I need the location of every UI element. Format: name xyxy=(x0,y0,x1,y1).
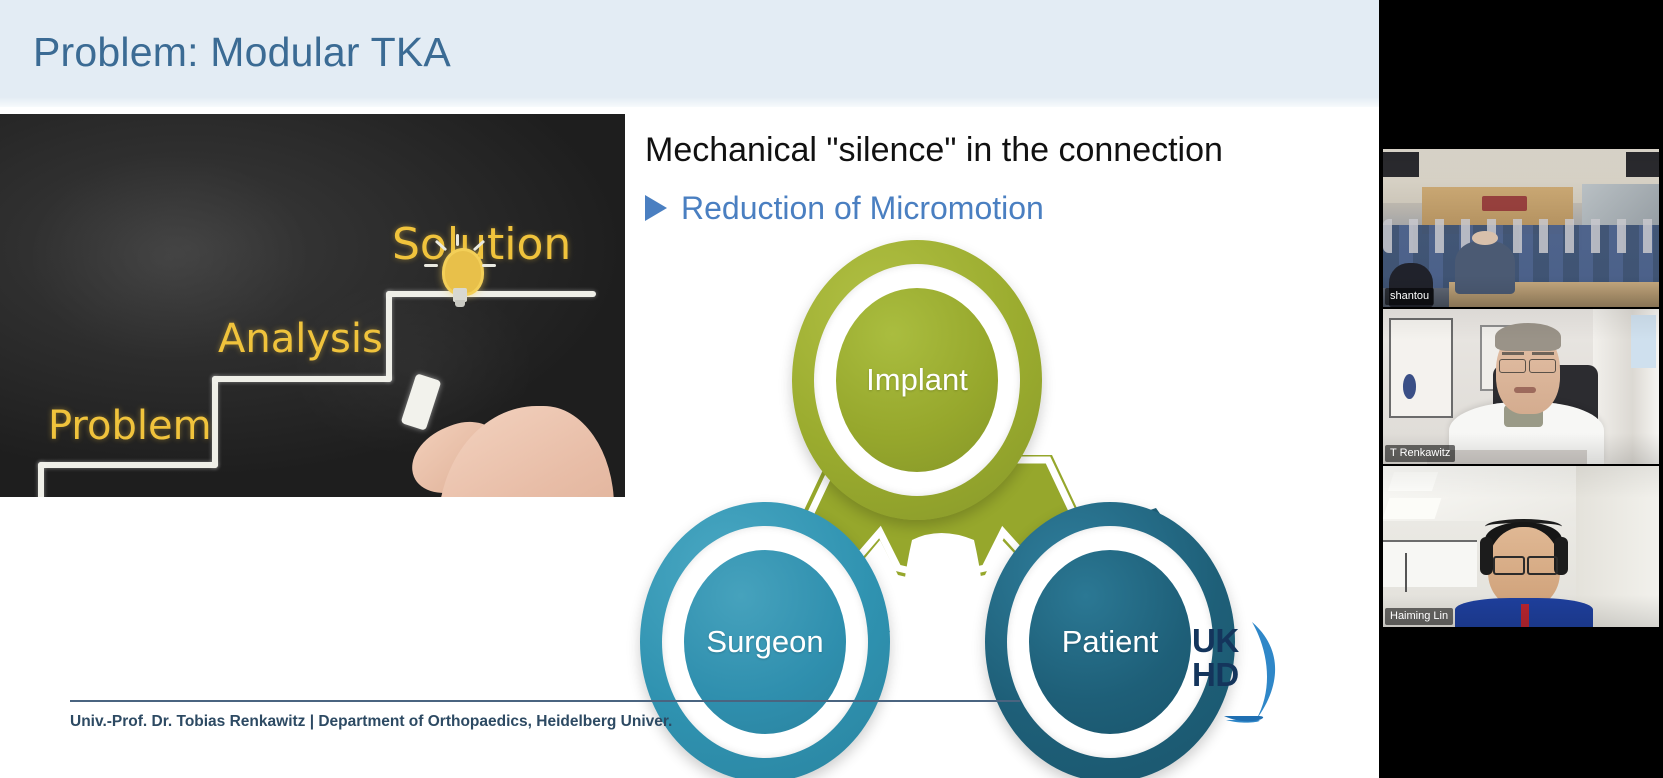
bulb-ray xyxy=(473,240,485,252)
bulb-ray xyxy=(482,264,496,267)
window-light xyxy=(1631,315,1656,368)
video-feed xyxy=(1383,309,1659,464)
headphone-earcup xyxy=(1480,537,1494,576)
chalk-step-line xyxy=(386,291,392,382)
diagram-node-implant[interactable]: Implant xyxy=(792,240,1042,520)
bulb-ray xyxy=(435,240,447,252)
ukhd-logo: UK HD xyxy=(1192,612,1282,730)
footer-text: Univ.-Prof. Dr. Tobias Renkawitz | Depar… xyxy=(70,710,672,734)
eyeglasses-lens xyxy=(1499,359,1526,373)
chalk-stick xyxy=(401,373,442,430)
room-wall xyxy=(1576,466,1659,627)
slide-title: Problem: Modular TKA xyxy=(33,26,451,78)
ceiling-light xyxy=(1388,472,1438,491)
participant-name-renkawitz: T Renkawitz xyxy=(1385,445,1455,462)
chalk-step-line xyxy=(38,462,218,468)
ukhd-logo-line2: HD xyxy=(1192,658,1239,691)
audience-heads xyxy=(1383,219,1659,254)
participant-name-haiming-lin: Haiming Lin xyxy=(1385,608,1453,625)
title-bar-sheen xyxy=(0,97,1379,107)
ukhd-logo-line1: UK xyxy=(1192,624,1239,657)
chalk-step-line xyxy=(212,376,218,468)
video-feed xyxy=(1383,466,1659,627)
wall-monitor xyxy=(1383,152,1419,177)
eyebrow xyxy=(1502,352,1524,355)
lanyard xyxy=(1521,604,1529,627)
eyeglasses-lens xyxy=(1493,556,1525,574)
diagram-node-label: Patient xyxy=(1062,624,1159,660)
chalk-word-analysis: Analysis xyxy=(218,316,383,362)
chalk-word-problem: Problem xyxy=(48,403,212,449)
seated-person xyxy=(1455,241,1516,295)
slide-headline: Mechanical "silence" in the connection xyxy=(645,128,1223,172)
node-inner-disc: Implant xyxy=(836,288,998,472)
presentation-slide[interactable]: Problem: Modular TKA Problem Analysis So… xyxy=(0,0,1379,778)
person-mouth xyxy=(1514,387,1536,393)
person-hair xyxy=(1495,323,1561,351)
chalk-step-line xyxy=(38,462,44,497)
projection-screen xyxy=(1383,540,1477,587)
node-inner-disc: Patient xyxy=(1029,550,1191,734)
person-head xyxy=(1472,231,1499,245)
eyeglasses-lens xyxy=(1527,556,1559,574)
video-tile-renkawitz[interactable]: T Renkawitz xyxy=(1383,309,1659,464)
wall-monitor xyxy=(1626,152,1659,177)
chalkboard-steps-photo: Problem Analysis Solution xyxy=(0,114,625,497)
hand-with-chalk xyxy=(400,364,625,497)
slide-bullet-text: Reduction of Micromotion xyxy=(681,187,1044,229)
bulb-base xyxy=(455,300,465,307)
diagram-node-surgeon[interactable]: Surgeon xyxy=(640,502,890,778)
footer-divider xyxy=(70,700,1020,702)
eyebrow xyxy=(1532,352,1554,355)
wall-picture-frame xyxy=(1389,318,1454,418)
video-tile-shantou[interactable]: shantou xyxy=(1383,149,1659,307)
ceiling-light xyxy=(1383,498,1442,519)
slide-bullet-row: Reduction of Micromotion xyxy=(645,187,1044,229)
three-circle-diagram: Implant Surgeon Patient xyxy=(640,240,1260,778)
chalk-step-line xyxy=(212,376,392,382)
lightbulb-icon xyxy=(432,242,488,314)
video-feed xyxy=(1383,149,1659,307)
hanging-cord xyxy=(1405,553,1407,592)
diagram-node-label: Implant xyxy=(866,362,968,398)
node-inner-disc: Surgeon xyxy=(684,550,846,734)
eyeglasses-lens xyxy=(1529,359,1556,373)
wall-emblem xyxy=(1482,196,1526,210)
bulb-ray xyxy=(424,264,438,267)
hand-palm xyxy=(438,406,614,497)
participant-name-shantou: shantou xyxy=(1385,288,1434,305)
bulb-ray xyxy=(456,234,459,246)
video-tile-haiming-lin[interactable]: Haiming Lin xyxy=(1383,466,1659,627)
video-sidebar: shantou T Renkawitz xyxy=(1379,0,1663,778)
screen: Problem: Modular TKA Problem Analysis So… xyxy=(0,0,1663,778)
triangle-bullet-icon xyxy=(645,195,667,221)
chalk-step-line xyxy=(386,291,596,297)
diagram-node-label: Surgeon xyxy=(706,624,823,660)
frame-artwork xyxy=(1403,374,1416,399)
